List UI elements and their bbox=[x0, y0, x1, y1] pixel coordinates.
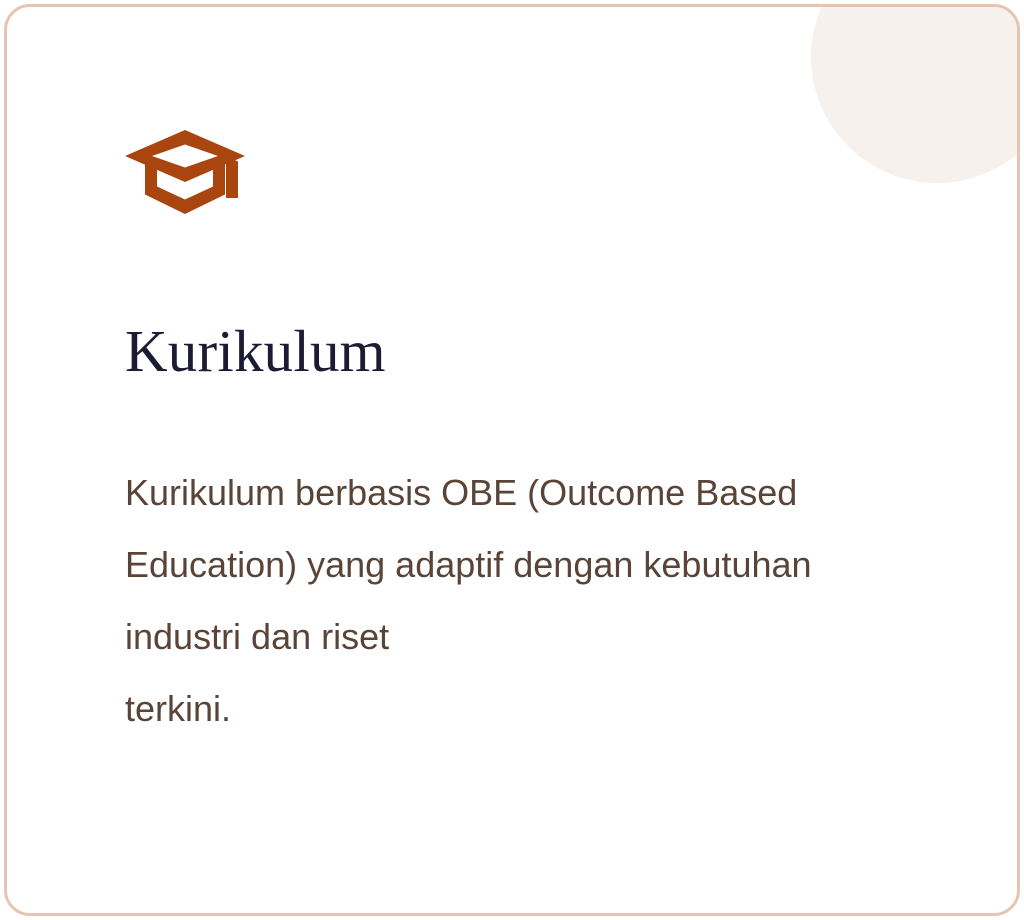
graduation-cap-icon bbox=[123, 128, 247, 218]
card-content: Kurikulum Kurikulum berbasis OBE (Outcom… bbox=[123, 7, 977, 913]
feature-card: Kurikulum Kurikulum berbasis OBE (Outcom… bbox=[4, 4, 1020, 916]
card-description: Kurikulum berbasis OBE (Outcome Based Ed… bbox=[125, 457, 915, 745]
card-title: Kurikulum bbox=[125, 318, 386, 386]
